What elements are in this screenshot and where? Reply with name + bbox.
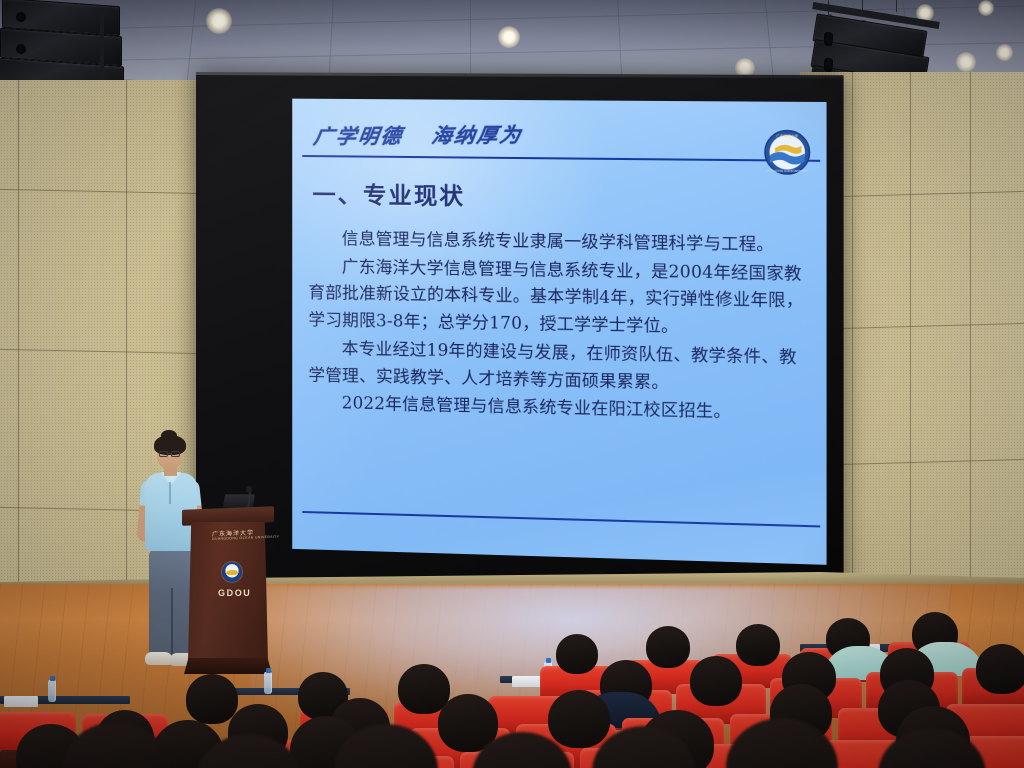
slide-divider-top [302,155,820,162]
slide-title: 一、专业现状 [312,175,465,211]
ceiling-downlight [206,8,232,34]
gdou-crest-icon [222,562,242,582]
auditorium-scene: 广学明德 海纳厚为 广东海洋大学 GUANGDONG OCEAN UNIVERS… [0,0,1024,768]
audience-head [186,674,238,724]
audience-head [736,624,780,666]
svg-text:广东海洋大学: 广东海洋大学 [776,133,798,138]
ceiling-downlight [956,52,976,72]
audience-head [556,634,598,674]
slide-paragraph: 本专业经过19年的建设与发展，在师资队伍、教学条件、教学管理、实践教学、人才培养… [308,335,811,400]
slide-paragraph: 广东海洋大学信息管理与信息系统专业，是2004年经国家教育部批准新设立的本科专业… [308,253,811,343]
svg-text:GUANGDONG OCEAN UNIVERSITY: GUANGDONG OCEAN UNIVERSITY [767,170,809,174]
water-bottle [48,680,56,702]
podium-abbrev: GDOU [218,588,251,598]
audience-area [0,600,1024,768]
audience-head [646,626,690,668]
ceiling-downlight [498,26,520,48]
slide-body: 信息管理与信息系统专业隶属一级学科管理科学与工程。 广东海洋大学信息管理与信息系… [308,225,811,429]
name-card [4,696,38,707]
slide-divider-bottom [302,511,820,527]
audience-head [690,656,742,706]
presentation-slide: 广学明德 海纳厚为 广东海洋大学 GUANGDONG OCEAN UNIVERS… [292,99,826,565]
gdou-university-emblem: 广东海洋大学 GUANGDONG OCEAN UNIVERSITY [763,128,812,176]
audience-head [548,690,610,748]
projection-screen-frame: 广学明德 海纳厚为 广东海洋大学 GUANGDONG OCEAN UNIVERS… [196,72,844,603]
audience-head [976,644,1024,694]
ceiling-downlight [996,44,1013,61]
university-motto-calligraphy: 广学明德 海纳厚为 [312,116,751,149]
ceiling-downlight [978,0,994,16]
water-bottle [264,672,272,694]
eyeglasses-icon [159,451,168,457]
